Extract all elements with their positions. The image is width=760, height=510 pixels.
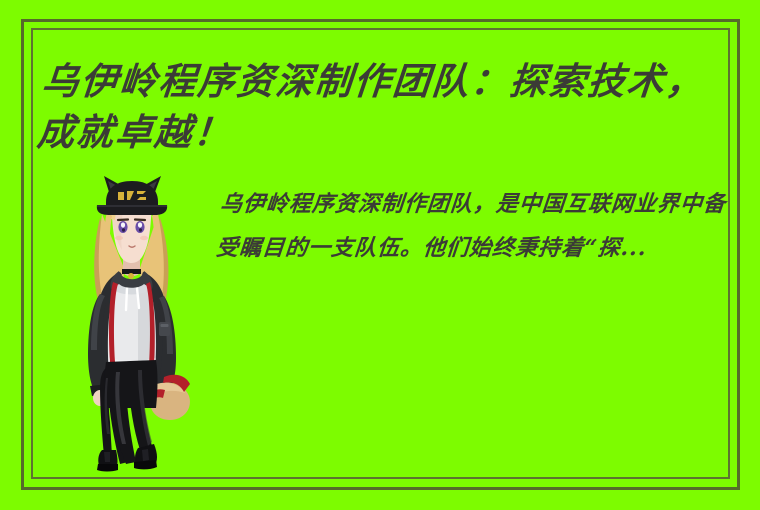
poster-content-area: 乌伊岭程序资深制作团队，是中国互联网业界中备受瞩目的一支队伍。他们始终秉持着“探… bbox=[64, 172, 732, 472]
anime-girl-illustration bbox=[64, 172, 214, 472]
poster-canvas: 乌伊岭程序资深制作团队：探索技术，成就卓越！ bbox=[0, 0, 760, 510]
poster-body-text: 乌伊岭程序资深制作团队，是中国互联网业界中备受瞩目的一支队伍。他们始终秉持着“探… bbox=[214, 182, 732, 270]
poster-headline: 乌伊岭程序资深制作团队：探索技术，成就卓越！ bbox=[35, 56, 716, 158]
